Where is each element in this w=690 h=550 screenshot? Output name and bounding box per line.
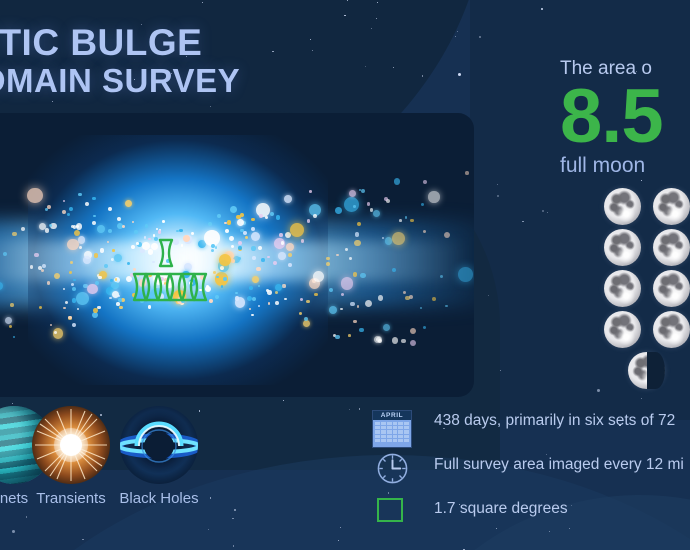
star-dot [12,403,13,404]
detail-row: 1.7 square degrees [372,496,690,542]
category-black-holes: Black Holes [107,406,211,507]
star-dot [12,530,15,533]
title-line-2: -DOMAIN SURVEY [0,64,344,98]
star-dot [359,408,360,409]
star-dot [210,106,211,107]
moon-row [604,352,690,393]
survey-field-lower-row [134,274,206,300]
moon-row [604,311,690,352]
black-hole-icon [120,406,198,484]
moon-count-grid [604,188,690,393]
detail-text: Full survey area imaged every 12 mi [434,456,684,474]
full-moon-icon [604,311,641,348]
infographic-root: ACTIC BULGE -DOMAIN SURVEY The area [0,0,690,550]
full-moon-icon [604,188,641,225]
detail-text: 1.7 square degrees [434,500,568,518]
detail-row: APRIL 438 days, primarily in six sets of… [372,404,690,450]
page-title: ACTIC BULGE -DOMAIN SURVEY [0,24,344,97]
detail-text: 438 days, primarily in six sets of 72 [434,412,675,430]
area-stat-block: The area o 8.5 full moon [560,58,690,178]
accretion-disk [120,406,198,484]
full-moon-icon [604,229,641,266]
science-category-list: nets [0,406,262,526]
full-moon-icon [653,188,690,225]
transient-star-icon [32,406,110,484]
half-moon-icon [628,352,665,389]
area-stat-number: 8.5 [560,82,690,152]
star-dot [233,545,234,546]
full-moon-icon [604,270,641,307]
star-dot [597,389,600,392]
moon-row [604,270,690,311]
star-dot [82,539,83,540]
full-moon-icon [653,311,690,348]
area-stat-sublabel: full moon [560,154,690,178]
full-moon-icon [653,270,690,307]
green-square-icon [377,498,403,522]
calendar-grid [373,420,411,444]
galaxy-image-panel [0,113,474,397]
moon-row [604,188,690,229]
calendar-icon: APRIL [372,410,412,448]
clock-icon [376,452,409,485]
category-label: Black Holes [107,490,211,507]
star-dot [479,36,481,38]
detail-row: Full survey area imaged every 12 mi [372,450,690,496]
survey-field-overlay [0,113,474,397]
moon-row [604,229,690,270]
title-line-1: ACTIC BULGE [0,24,344,62]
star-dot [371,28,372,29]
full-moon-icon [653,229,690,266]
survey-field-upper [160,240,172,266]
star-dot [422,75,423,76]
calendar-month-label: APRIL [373,411,411,420]
survey-detail-list: APRIL 438 days, primarily in six sets of… [372,404,690,542]
transient-rays [32,406,110,484]
